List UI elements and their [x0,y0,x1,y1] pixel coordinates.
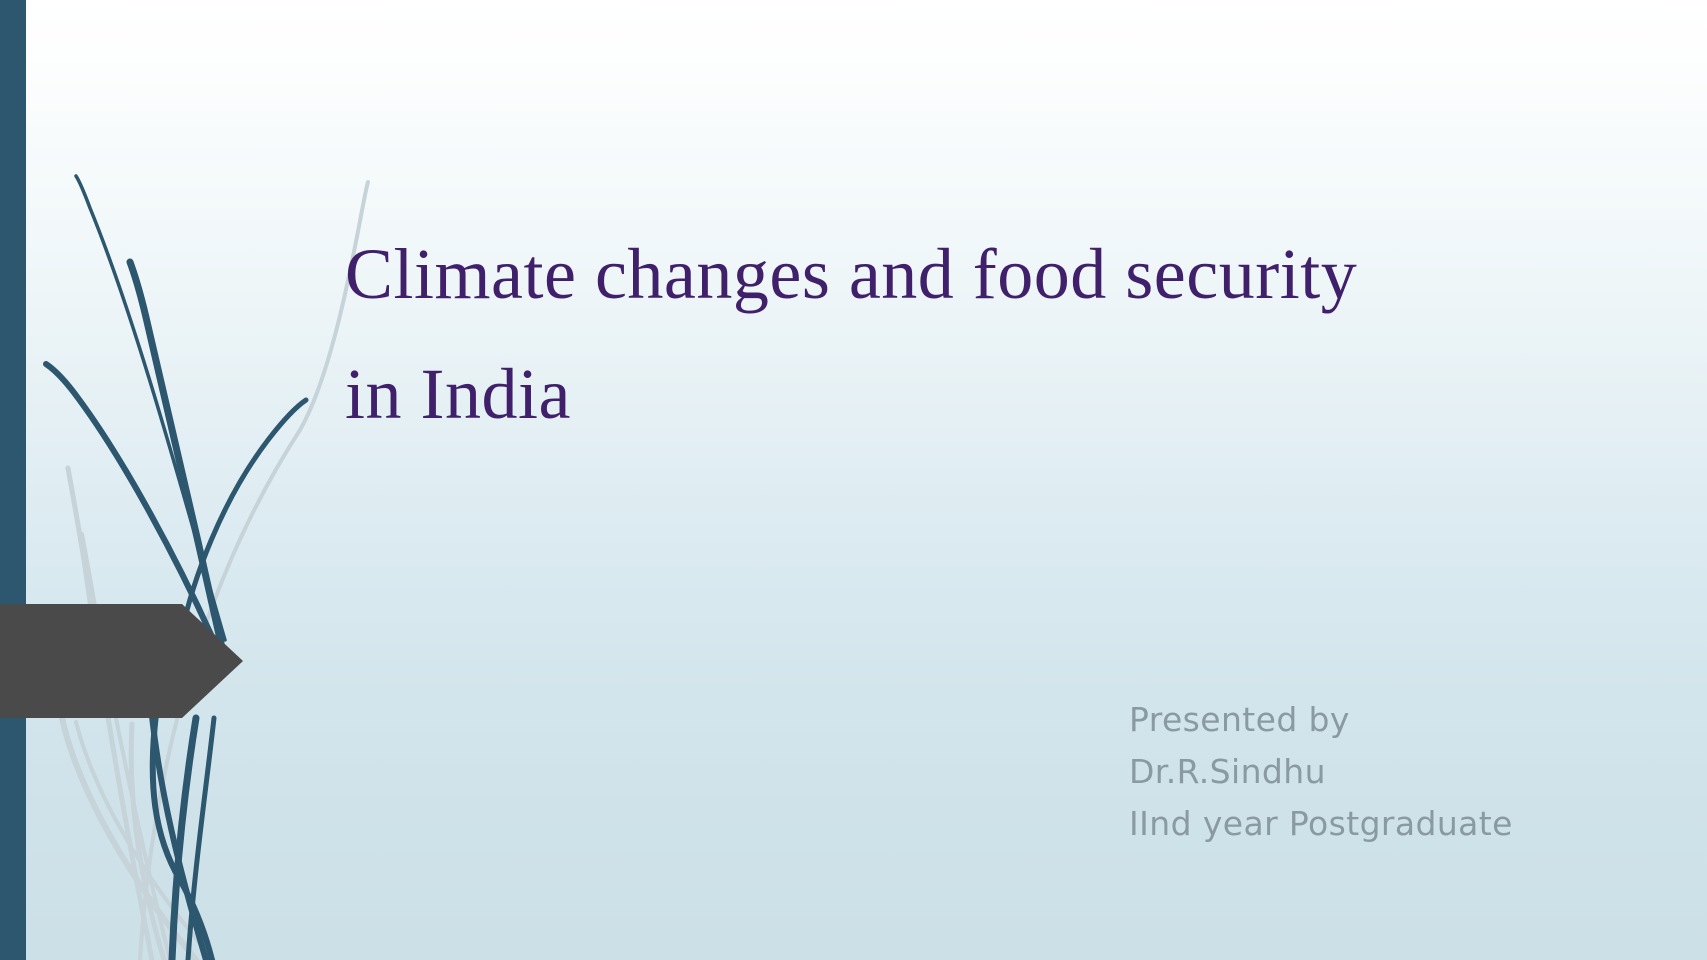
grass-dark-stem-1 [76,176,225,640]
arrow-banner [0,604,243,718]
grass-light-arc-4 [62,718,196,960]
grass-dark-stem-3 [46,364,218,650]
title-line-1: Climate changes and food security [345,214,1465,334]
grass-light-arc-3 [82,534,170,960]
grass-light-arc-5 [76,722,214,960]
grass-dark-stem-6 [188,718,214,960]
title-line-2: in India [345,334,1465,454]
grass-light-arc-6 [131,724,164,960]
grass-dark-stem-4 [180,400,306,640]
slide-subtitle: Presented by Dr.R.Sindhu IInd year Postg… [1129,694,1589,850]
grass-dark-stem-2 [130,262,222,648]
slide-title: Climate changes and food security in Ind… [345,214,1465,454]
grass-light-arc-1 [140,182,368,960]
subtitle-line-presenter-name: Dr.R.Sindhu [1129,746,1589,798]
grass-dark-stem-7 [152,716,206,960]
grass-light-arc-2 [68,468,152,960]
grass-dark-stem-8 [153,714,212,960]
grass-dark-stem-5 [172,718,196,960]
subtitle-line-presenter-role: IInd year Postgraduate [1129,798,1589,850]
title-slide: Climate changes and food security in Ind… [0,0,1707,960]
left-accent-bar [0,0,26,960]
subtitle-line-presented-by: Presented by [1129,694,1589,746]
